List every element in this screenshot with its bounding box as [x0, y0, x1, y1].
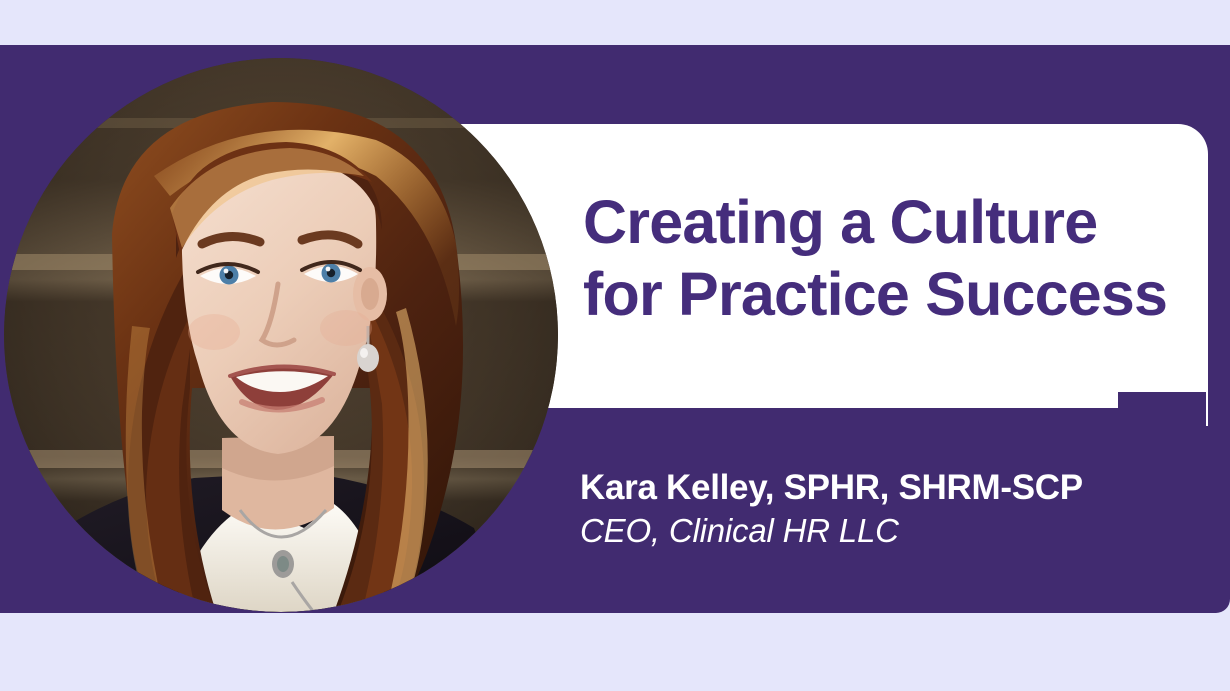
speaker-credit: Kara Kelley, SPHR, SHRM-SCP CEO, Clinica… — [580, 466, 1210, 552]
speaker-name: Kara Kelley, SPHR, SHRM-SCP — [580, 466, 1210, 510]
slide-title-line-2: for Practice Success — [583, 258, 1203, 330]
slide-title-line-1: Creating a Culture — [583, 186, 1203, 258]
speaker-role: CEO, Clinical HR LLC — [580, 510, 1210, 552]
speaker-photo — [4, 58, 558, 612]
portrait-illustration — [4, 58, 558, 612]
presentation-slide: Creating a Culture for Practice Success … — [0, 0, 1230, 691]
speech-bubble-tail — [1118, 392, 1208, 428]
slide-title: Creating a Culture for Practice Success — [583, 186, 1203, 330]
